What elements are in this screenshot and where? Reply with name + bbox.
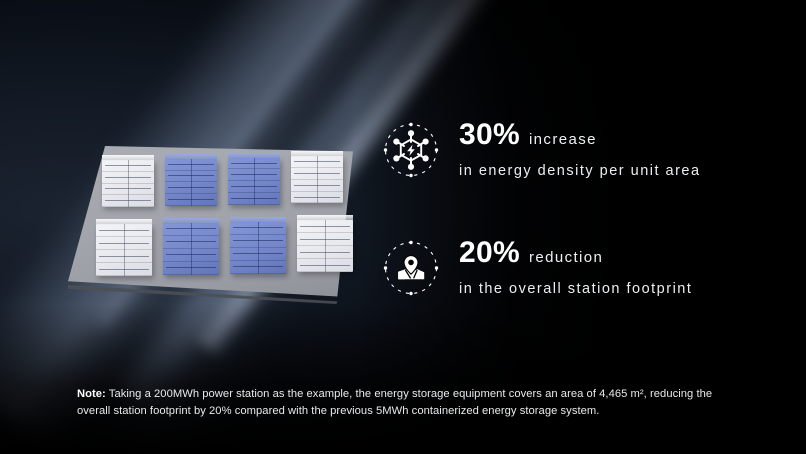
background-bottom-fade: [0, 304, 806, 454]
equipment-unit: [230, 222, 286, 274]
equipment-unit: [163, 223, 219, 275]
unit-center-seam: [317, 156, 318, 203]
unit-center-seam: [325, 220, 326, 272]
stat-unit: reduction: [529, 250, 603, 265]
map-location-icon: [382, 239, 440, 297]
slide-canvas: 30% increase in energy density per unit …: [0, 0, 806, 454]
unit-center-seam: [191, 223, 192, 275]
unit-module-stack: [230, 222, 286, 274]
energy-density-icon: [382, 121, 440, 179]
footnote-text: Taking a 200MWh power station as the exa…: [77, 388, 712, 417]
stat-unit: increase: [529, 132, 597, 147]
unit-module-stack: [163, 223, 219, 275]
equipment-unit: [228, 158, 280, 205]
unit-module-stack: [291, 156, 343, 203]
stat-description: in energy density per unit area: [459, 163, 701, 179]
stat-block-energy-density: 30% increase in energy density per unit …: [382, 118, 701, 179]
stat-text-energy-density: 30% increase in energy density per unit …: [459, 118, 701, 179]
stat-headline: 20% reduction: [459, 238, 692, 268]
stat-headline: 30% increase: [459, 120, 701, 150]
footnote: Note: Taking a 200MWh power station as t…: [77, 386, 737, 419]
unit-center-seam: [124, 224, 125, 276]
footnote-label: Note:: [77, 388, 106, 400]
unit-center-seam: [128, 160, 129, 207]
stat-text-station-footprint: 20% reduction in the overall station foo…: [459, 236, 692, 297]
equipment-unit: [102, 160, 154, 207]
unit-center-seam: [191, 159, 192, 206]
unit-module-stack: [165, 159, 217, 206]
unit-center-seam: [254, 158, 255, 205]
equipment-unit: [291, 156, 343, 203]
stat-description: in the overall station footprint: [459, 281, 692, 297]
unit-module-stack: [102, 160, 154, 207]
equipment-unit: [297, 220, 353, 272]
equipment-unit: [165, 159, 217, 206]
stat-block-station-footprint: 20% reduction in the overall station foo…: [382, 236, 692, 297]
stat-value: 30%: [459, 120, 520, 150]
unit-center-seam: [258, 222, 259, 274]
stat-value: 20%: [459, 238, 520, 268]
equipment-unit: [96, 224, 152, 276]
product-render: [60, 138, 360, 313]
unit-module-stack: [297, 220, 353, 272]
unit-module-stack: [96, 224, 152, 276]
unit-module-stack: [228, 158, 280, 205]
